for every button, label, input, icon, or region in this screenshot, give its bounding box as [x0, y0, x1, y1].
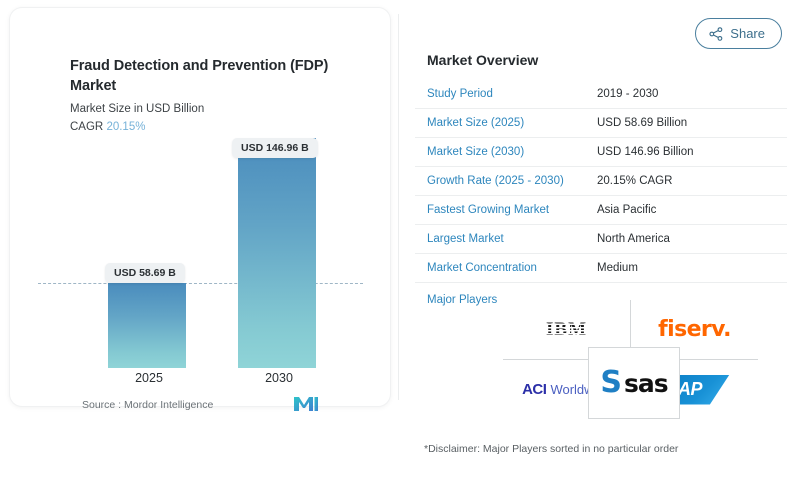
- share-nodes-icon: [709, 27, 723, 41]
- share-button-label: Share: [730, 26, 765, 41]
- row-key: Growth Rate (2025 - 2030): [427, 175, 597, 187]
- chart-title: Fraud Detection and Prevention (FDP) Mar…: [70, 56, 370, 96]
- cagr-value: 20.15%: [106, 121, 145, 133]
- row-value: USD 146.96 Billion: [597, 146, 694, 158]
- row-value: Asia Pacific: [597, 204, 656, 216]
- table-row: Growth Rate (2025 - 2030) 20.15% CAGR: [415, 167, 787, 196]
- table-row: Largest Market North America: [415, 225, 787, 254]
- row-value: 2019 - 2030: [597, 88, 658, 100]
- player-cell-sas: S sas: [588, 347, 680, 419]
- table-row: Market Size (2025) USD 58.69 Billion: [415, 109, 787, 138]
- mordor-intelligence-logo-icon: [293, 396, 319, 412]
- x-axis-label-2030: 2030: [234, 371, 324, 385]
- row-key: Study Period: [427, 88, 597, 100]
- table-row: Fastest Growing Market Asia Pacific: [415, 196, 787, 225]
- row-value: 20.15% CAGR: [597, 175, 672, 187]
- source-text: Source : Mordor Intelligence: [82, 399, 213, 411]
- market-overview-table: Study Period 2019 - 2030 Market Size (20…: [415, 80, 787, 317]
- row-value: USD 58.69 Billion: [597, 117, 687, 129]
- table-row: Market Size (2030) USD 146.96 Billion: [415, 138, 787, 167]
- aci-logo-mark: ACI: [522, 381, 546, 398]
- sas-logo-mark: S: [600, 368, 622, 398]
- ibm-logo: IBM: [546, 319, 587, 341]
- bar-2025[interactable]: [108, 283, 186, 368]
- fiserv-logo: fiserv.: [658, 317, 731, 342]
- chart-cagr: CAGR 20.15%: [70, 121, 145, 133]
- panel-divider: [398, 14, 399, 400]
- cagr-label: CAGR: [70, 121, 103, 133]
- bar-2030[interactable]: [238, 138, 316, 368]
- row-key: Market Concentration: [427, 262, 597, 274]
- bar-chart-plot: [30, 138, 370, 368]
- bar-label-2025: USD 58.69 B: [105, 263, 185, 283]
- chart-card: Fraud Detection and Prevention (FDP) Mar…: [10, 8, 390, 406]
- sas-logo-text: sas: [624, 369, 668, 398]
- row-key: Market Size (2030): [427, 146, 597, 158]
- chart-subtitle: Market Size in USD Billion: [70, 103, 204, 115]
- row-value: Medium: [597, 262, 638, 274]
- x-axis-label-2025: 2025: [104, 371, 194, 385]
- table-row: Study Period 2019 - 2030: [415, 80, 787, 109]
- share-button[interactable]: Share: [695, 18, 782, 49]
- row-key: Market Size (2025): [427, 117, 597, 129]
- disclaimer-text: *Disclaimer: Major Players sorted in no …: [424, 443, 678, 455]
- market-overview-title: Market Overview: [427, 52, 538, 68]
- table-row: Market Concentration Medium: [415, 254, 787, 283]
- bar-label-2030: USD 146.96 B: [232, 138, 318, 158]
- row-value: North America: [597, 233, 670, 245]
- row-key: Fastest Growing Market: [427, 204, 597, 216]
- row-key: Largest Market: [427, 233, 597, 245]
- market-report-card: Fraud Detection and Prevention (FDP) Mar…: [0, 0, 800, 482]
